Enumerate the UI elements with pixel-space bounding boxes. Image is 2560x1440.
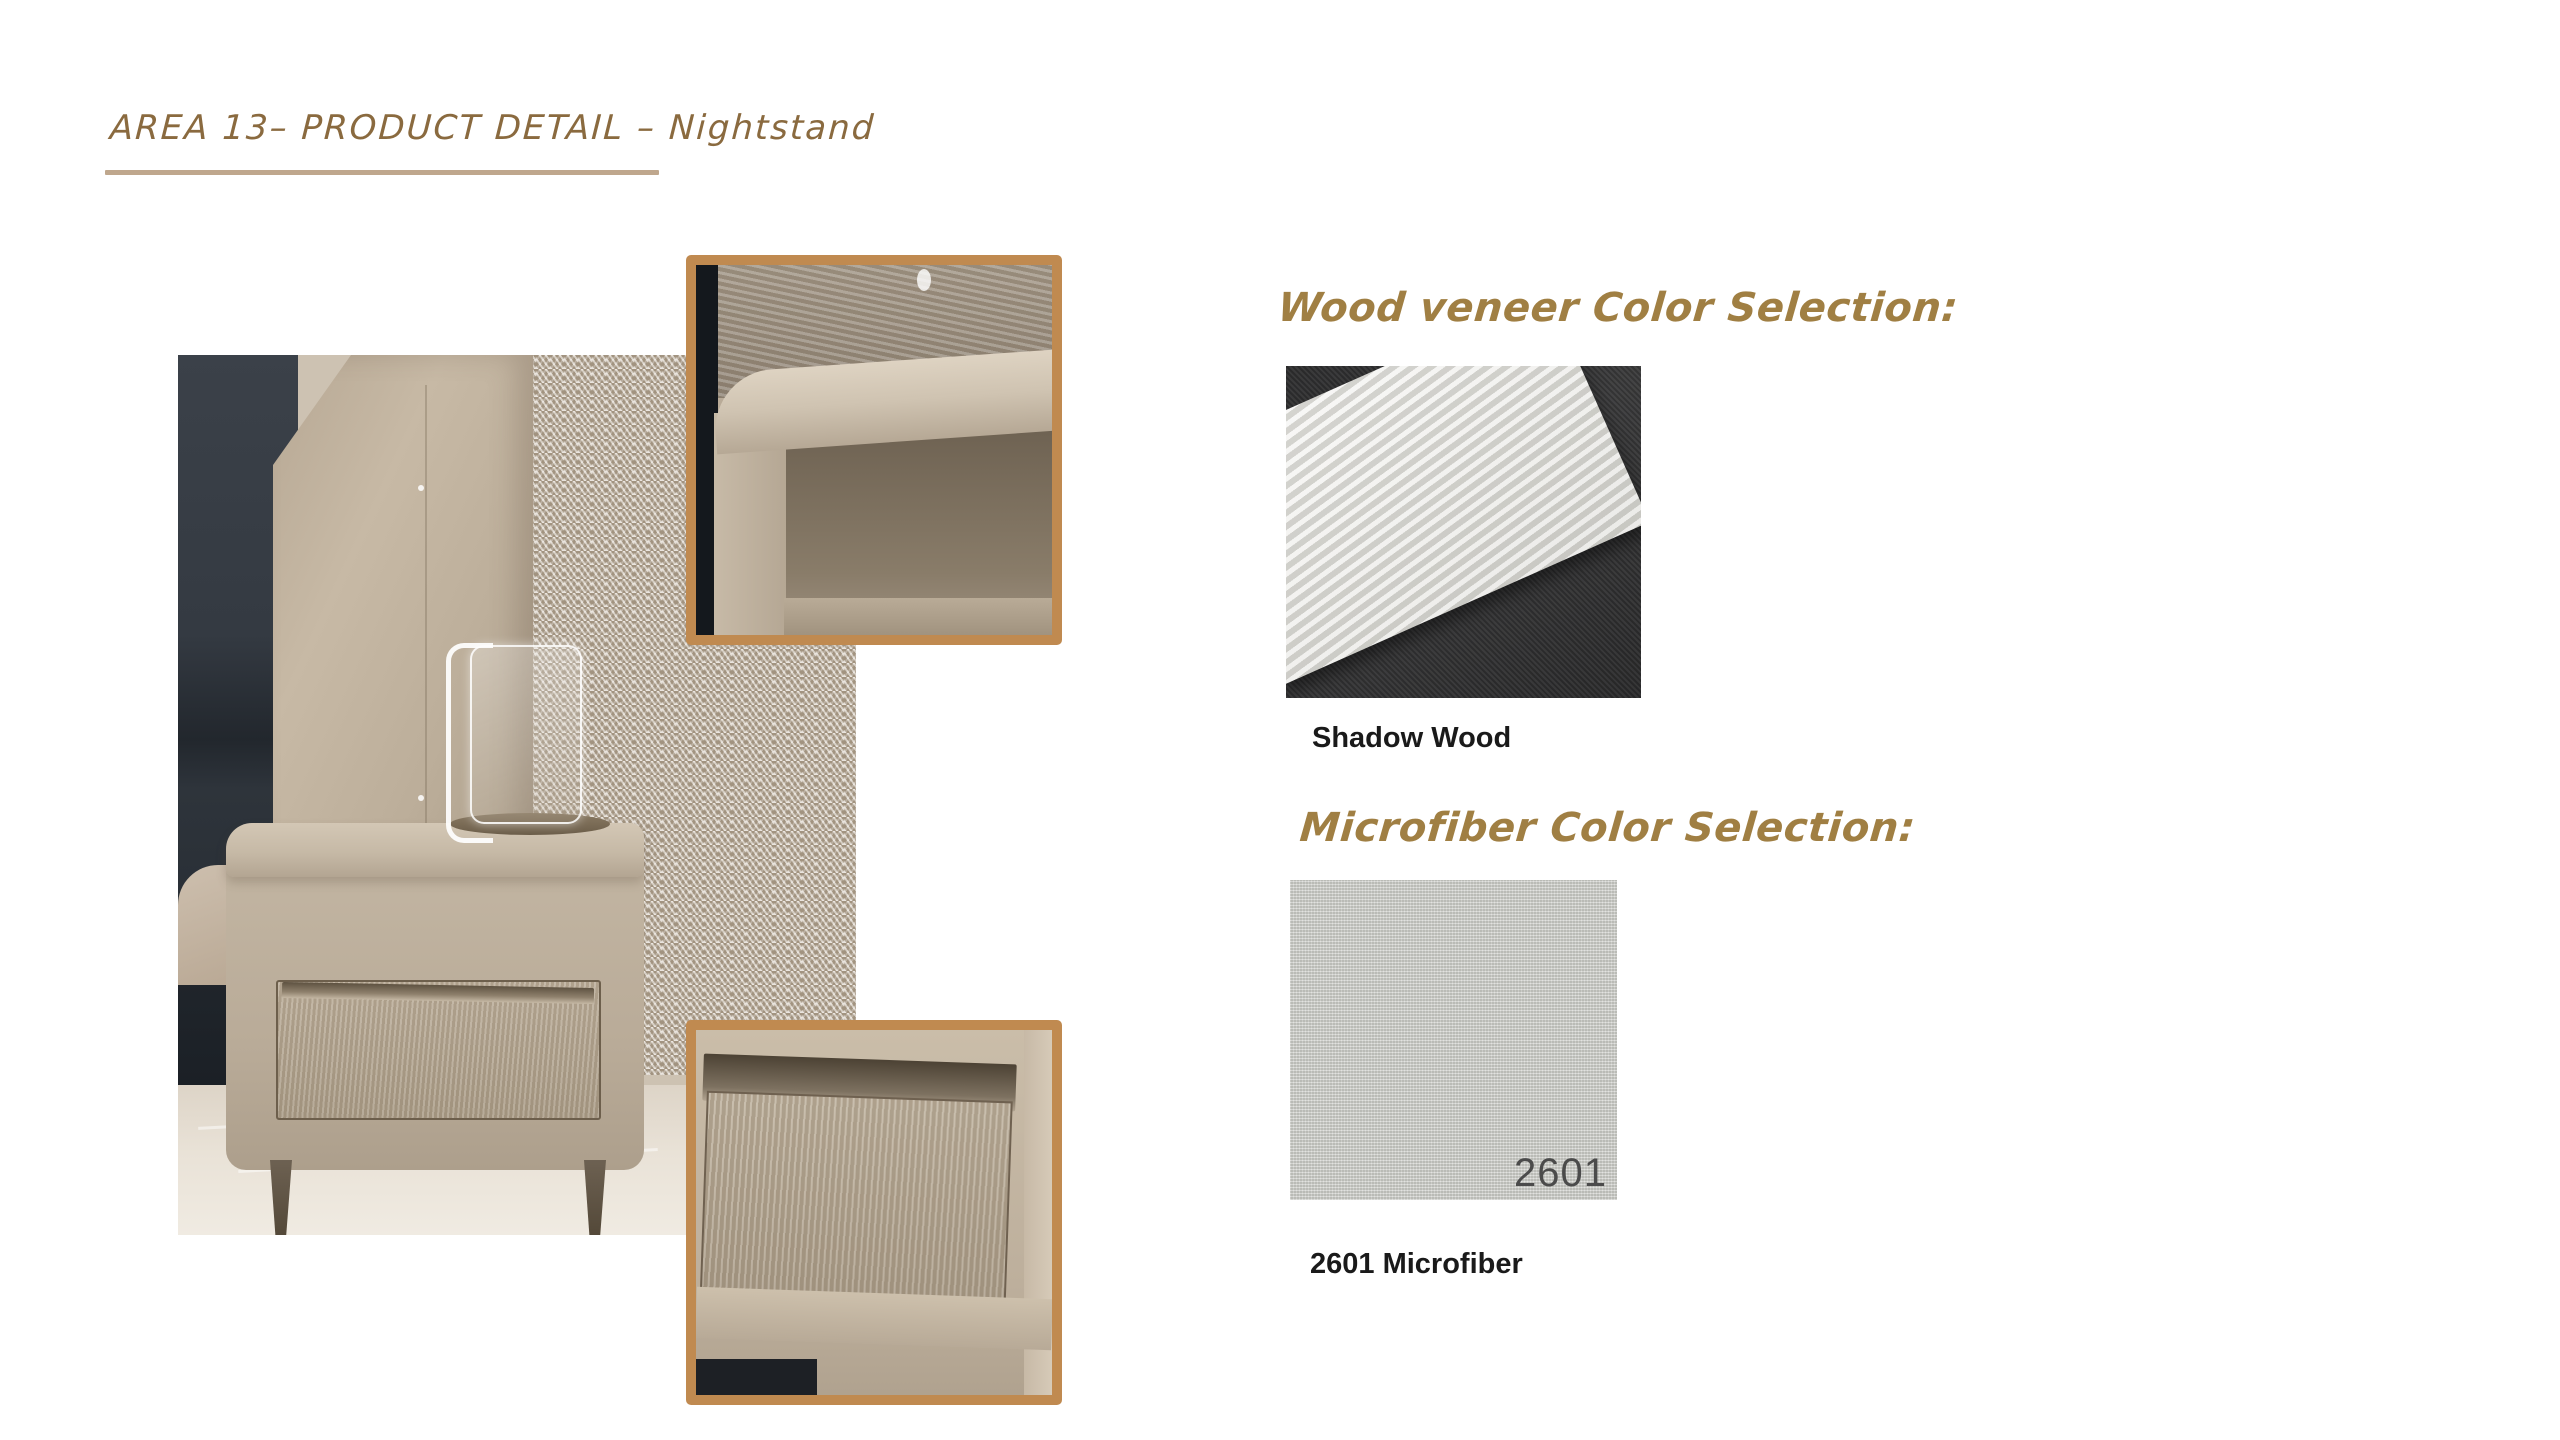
detail-light-highlight: [917, 269, 931, 291]
microfiber-label: 2601 Microfiber: [1310, 1248, 1523, 1281]
nightstand-top-edge-detail: [686, 255, 1062, 645]
page-title: AREA 13– PRODUCT DETAIL – Nightstand: [109, 108, 876, 148]
wood-veneer-heading: Wood veneer Color Selection:: [1276, 285, 1960, 331]
microfiber-2601-swatch[interactable]: 2601: [1290, 880, 1617, 1200]
microfiber-heading: Microfiber Color Selection:: [1298, 805, 1917, 851]
panel-stud-upper: [418, 485, 424, 491]
lamp-glass-shade: [470, 645, 582, 824]
title-underline-rule: [105, 170, 659, 175]
wood-board-face: [1286, 366, 1641, 685]
panel-stud-lower: [418, 795, 424, 801]
shadow-wood-label: Shadow Wood: [1312, 722, 1511, 755]
slide-header: AREA 13– PRODUCT DETAIL – Nightstand: [110, 108, 1310, 198]
panel-seam-line: [425, 385, 427, 855]
nightstand-drawer-front-detail: [686, 1020, 1062, 1405]
detail-shelf-base: [784, 598, 1062, 635]
detail-veneer-drawer-face: [699, 1090, 1013, 1320]
shadow-wood-swatch[interactable]: [1286, 366, 1641, 698]
microfiber-swatch-code: 2601: [1514, 1151, 1607, 1196]
detail-shadow-gap: [696, 1359, 817, 1396]
